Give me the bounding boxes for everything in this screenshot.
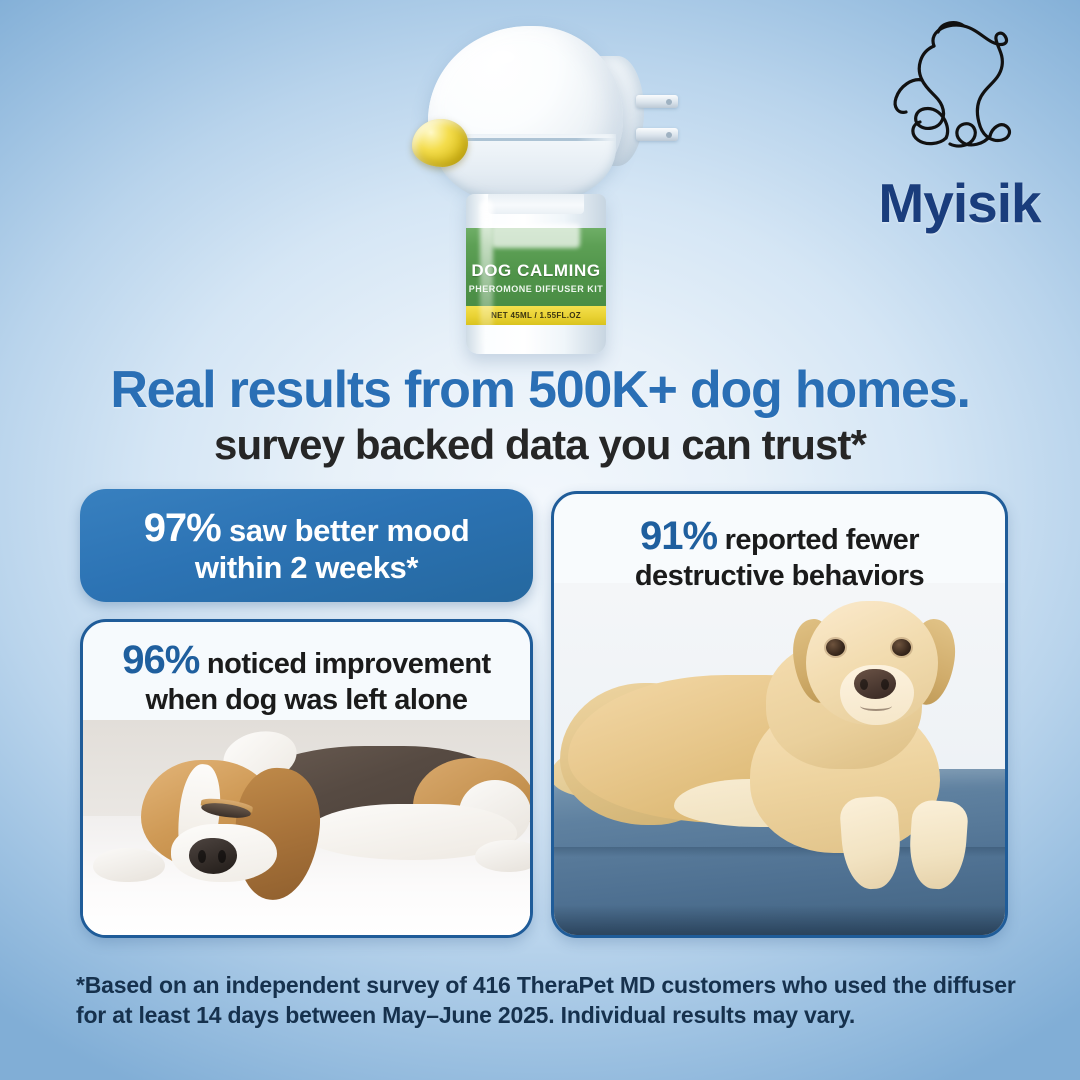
- stat-line-1: 96% noticed improvement: [99, 638, 514, 684]
- bottle-highlight: [480, 200, 493, 348]
- stat-line-2: when dog was left alone: [99, 684, 514, 717]
- retriever-nostril: [860, 679, 868, 690]
- stat-card-fewer-destructive: 91% reported fewer destructive behaviors: [551, 491, 1008, 938]
- retriever-mouth: [860, 701, 892, 711]
- retriever-nose: [854, 669, 896, 699]
- beagle-rear-paw: [475, 840, 530, 872]
- plug-prong-top: [636, 95, 678, 108]
- bottle-neck: [488, 194, 584, 214]
- stat-line1: noticed improvement: [207, 648, 491, 680]
- dog-line-art-icon: [872, 14, 1047, 174]
- stat-line2: destructive behaviors: [635, 560, 924, 592]
- stat-line-2: destructive behaviors: [570, 560, 989, 593]
- beagle-nostril: [218, 850, 226, 863]
- prong-hole: [666, 132, 672, 138]
- disclaimer-line-1: *Based on an independent survey of 416 T…: [76, 970, 1016, 1000]
- retriever-eye: [826, 639, 845, 656]
- beagle-nostril: [198, 850, 206, 863]
- retriever-eye: [892, 639, 911, 656]
- disclaimer-line-2: for at least 14 days between May–June 20…: [76, 1000, 1016, 1030]
- beagle-front-paw: [93, 848, 165, 882]
- refill-bottle: DOG CALMING PHEROMONE DIFFUSER KIT NET 4…: [466, 194, 606, 354]
- cushion-shadow: [554, 905, 1005, 935]
- plug-prong-bottom: [636, 128, 678, 141]
- stat-line1: reported fewer: [725, 524, 919, 556]
- photo-golden-retriever: [554, 583, 1005, 935]
- stat-card-left-alone: 96% noticed improvement when dog was lef…: [80, 619, 533, 938]
- headline: Real results from 500K+ dog homes.: [0, 363, 1080, 417]
- stat-percent: 91%: [640, 514, 717, 558]
- product-net-volume: NET 45ML / 1.55FL.OZ: [491, 311, 581, 320]
- stat-line2: when dog was left alone: [145, 684, 467, 716]
- stat-percent: 96%: [122, 638, 199, 682]
- photo-sleeping-beagle: [83, 720, 530, 935]
- brand-name: Myisik: [878, 176, 1040, 231]
- disclaimer: *Based on an independent survey of 416 T…: [76, 970, 1016, 1031]
- diffuser-dial-icon: [412, 119, 468, 167]
- subheadline: survey backed data you can trust*: [0, 423, 1080, 467]
- stat-text: 91% reported fewer destructive behaviors: [554, 494, 1005, 603]
- label-highlight: [492, 224, 580, 248]
- stat-text: 96% noticed improvement when dog was lef…: [83, 622, 530, 727]
- stat-card-better-mood: 97% saw better mood within 2 weeks*: [80, 489, 533, 602]
- stat-line2: within 2 weeks*: [195, 550, 418, 585]
- diffuser-highlight: [490, 50, 516, 64]
- stat-line1: saw better mood: [229, 513, 469, 548]
- beagle-nose: [189, 838, 237, 874]
- stat-text: 97% saw better mood within 2 weeks*: [144, 506, 470, 586]
- stat-percent: 97%: [144, 506, 221, 550]
- brand-logo: Myisik: [857, 14, 1062, 239]
- prong-hole: [666, 99, 672, 105]
- retriever-nostril: [881, 679, 889, 690]
- stat-line-1: 91% reported fewer: [570, 514, 989, 560]
- product-image: DOG CALMING PHEROMONE DIFFUSER KIT NET 4…: [390, 16, 690, 361]
- promo-poster: Myisik DOG CALMING PHEROMONE DIFFUSER KI…: [0, 0, 1080, 1080]
